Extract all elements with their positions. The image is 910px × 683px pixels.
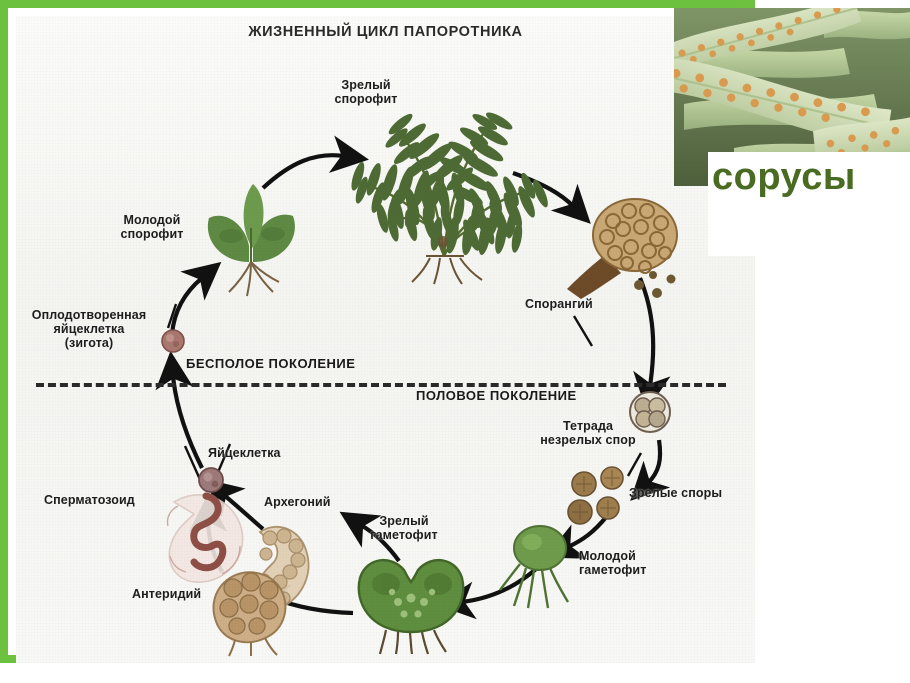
mature-gametophyte-art: [346, 536, 476, 656]
label-sporangium: Спорангий: [525, 297, 593, 311]
asexual-generation-label: БЕСПОЛОЕ ПОКОЛЕНИЕ: [186, 356, 355, 371]
label-zygote-line3: (зигота): [14, 336, 164, 350]
label-young-sporophyte: Молодой спорофит: [102, 213, 202, 241]
slide-canvas: ЖИЗНЕННЫЙ ЦИКЛ ПАПОРОТНИКА: [0, 0, 910, 683]
label-zygote: Оплодотворенная яйцеклетка (зигота): [14, 308, 164, 350]
young-gametophyte-art: [496, 516, 586, 612]
label-mature-sporophyte: Зрелый спорофит: [311, 78, 421, 106]
label-mature-spores: Зрелые споры: [629, 486, 722, 500]
label-young-gametophyte-line1: Молодой: [579, 549, 646, 563]
generation-divider: [36, 383, 726, 387]
label-tetrad: Тетрада незрелых спор: [528, 419, 648, 447]
diagram-frame: ЖИЗНЕННЫЙ ЦИКЛ ПАПОРОТНИКА: [0, 0, 755, 663]
diagram-panel: ЖИЗНЕННЫЙ ЦИКЛ ПАПОРОТНИКА: [16, 16, 755, 663]
antheridium-art: [201, 556, 311, 656]
label-zygote-line1: Оплодотворенная: [14, 308, 164, 322]
label-young-gametophyte: Молодой гаметофит: [579, 549, 646, 577]
sexual-generation-label: ПОЛОВОЕ ПОКОЛЕНИЕ: [416, 388, 577, 403]
label-young-sporophyte-line2: спорофит: [102, 227, 202, 241]
label-mature-sporophyte-line1: Зрелый: [311, 78, 421, 92]
label-zygote-line2: яйцеклетка: [14, 322, 164, 336]
young-sporophyte-art: [191, 166, 311, 306]
label-tetrad-line2: незрелых спор: [528, 433, 648, 447]
label-egg-cell: Яйцеклетка: [208, 446, 281, 460]
label-antheridium: Антеридий: [132, 587, 201, 601]
sorusy-callout-text: сорусы: [712, 154, 910, 200]
label-mature-sporophyte-line2: спорофит: [311, 92, 421, 106]
label-young-sporophyte-line1: Молодой: [102, 213, 202, 227]
label-spermatozoid: Сперматозоид: [44, 493, 135, 507]
label-mature-gametophyte-line2: гаметофит: [354, 528, 454, 542]
label-young-gametophyte-line2: гаметофит: [579, 563, 646, 577]
sporangium-art: [561, 181, 691, 311]
label-mature-gametophyte-line1: Зрелый: [354, 514, 454, 528]
label-tetrad-line1: Тетрада: [528, 419, 648, 433]
label-mature-gametophyte: Зрелый гаметофит: [354, 514, 454, 542]
label-archegonium: Архегоний: [264, 495, 331, 509]
